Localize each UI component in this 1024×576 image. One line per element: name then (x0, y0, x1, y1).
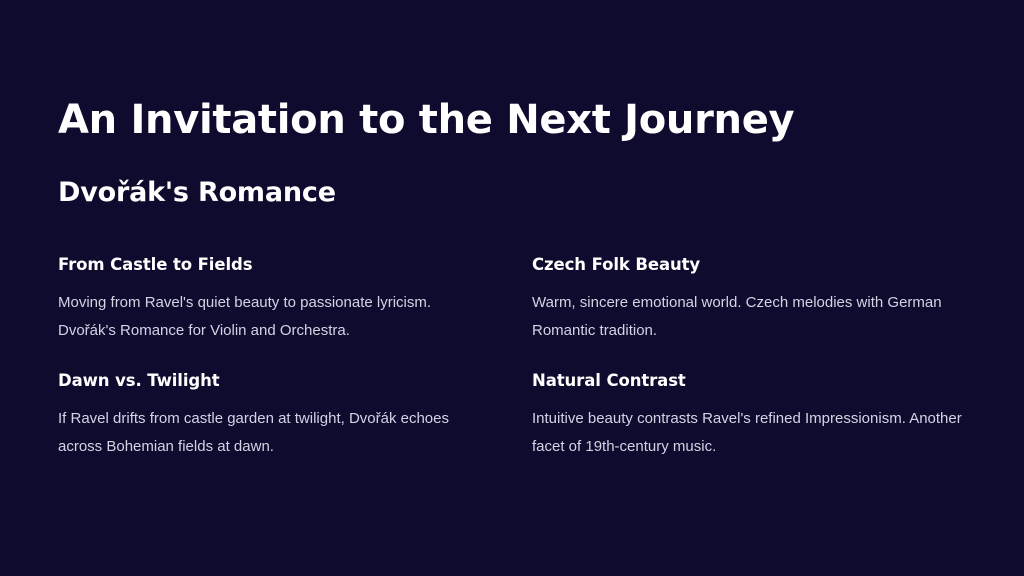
block-heading: From Castle to Fields (58, 255, 532, 275)
block-body: Moving from Ravel's quiet beauty to pass… (58, 289, 488, 345)
block-heading: Czech Folk Beauty (532, 255, 1006, 275)
content-columns: From Castle to Fields Moving from Ravel'… (58, 255, 966, 461)
slide-content: An Invitation to the Next Journey Dvořák… (58, 98, 966, 461)
content-block-czech-folk-beauty: Czech Folk Beauty Warm, sincere emotiona… (532, 255, 1006, 345)
content-block-dawn-vs-twilight: Dawn vs. Twilight If Ravel drifts from c… (58, 371, 532, 461)
block-body: Warm, sincere emotional world. Czech mel… (532, 289, 962, 345)
block-heading: Natural Contrast (532, 371, 1006, 391)
content-block-from-castle-to-fields: From Castle to Fields Moving from Ravel'… (58, 255, 532, 345)
column-right: Czech Folk Beauty Warm, sincere emotiona… (532, 255, 1006, 461)
block-heading: Dawn vs. Twilight (58, 371, 532, 391)
block-body: If Ravel drifts from castle garden at tw… (58, 405, 488, 461)
block-body: Intuitive beauty contrasts Ravel's refin… (532, 405, 962, 461)
slide-title: An Invitation to the Next Journey (58, 98, 966, 143)
slide-subtitle: Dvořák's Romance (58, 177, 966, 209)
column-left: From Castle to Fields Moving from Ravel'… (58, 255, 532, 461)
presentation-slide: An Invitation to the Next Journey Dvořák… (0, 0, 1024, 576)
content-block-natural-contrast: Natural Contrast Intuitive beauty contra… (532, 371, 1006, 461)
